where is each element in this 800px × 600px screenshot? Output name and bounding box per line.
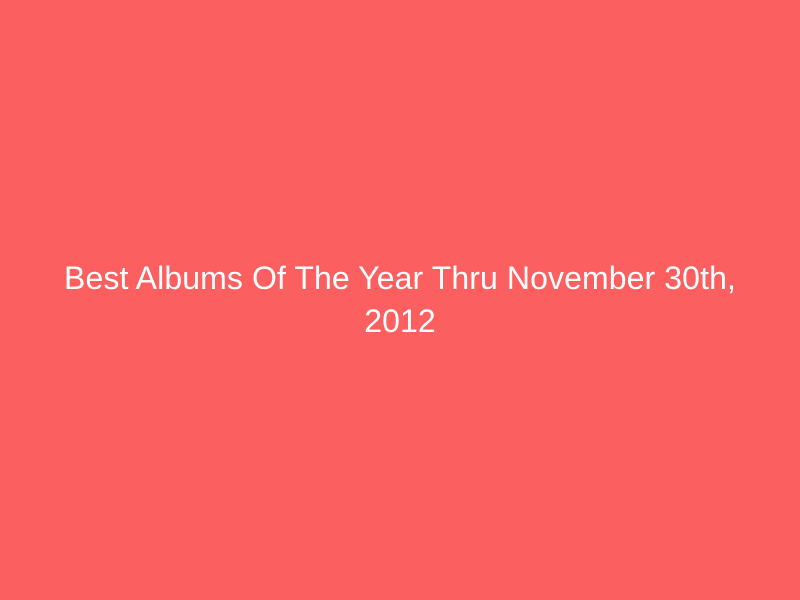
page-title: Best Albums Of The Year Thru November 30… [60, 257, 740, 343]
title-card-content: Best Albums Of The Year Thru November 30… [0, 257, 800, 343]
title-card: Best Albums Of The Year Thru November 30… [0, 0, 800, 600]
